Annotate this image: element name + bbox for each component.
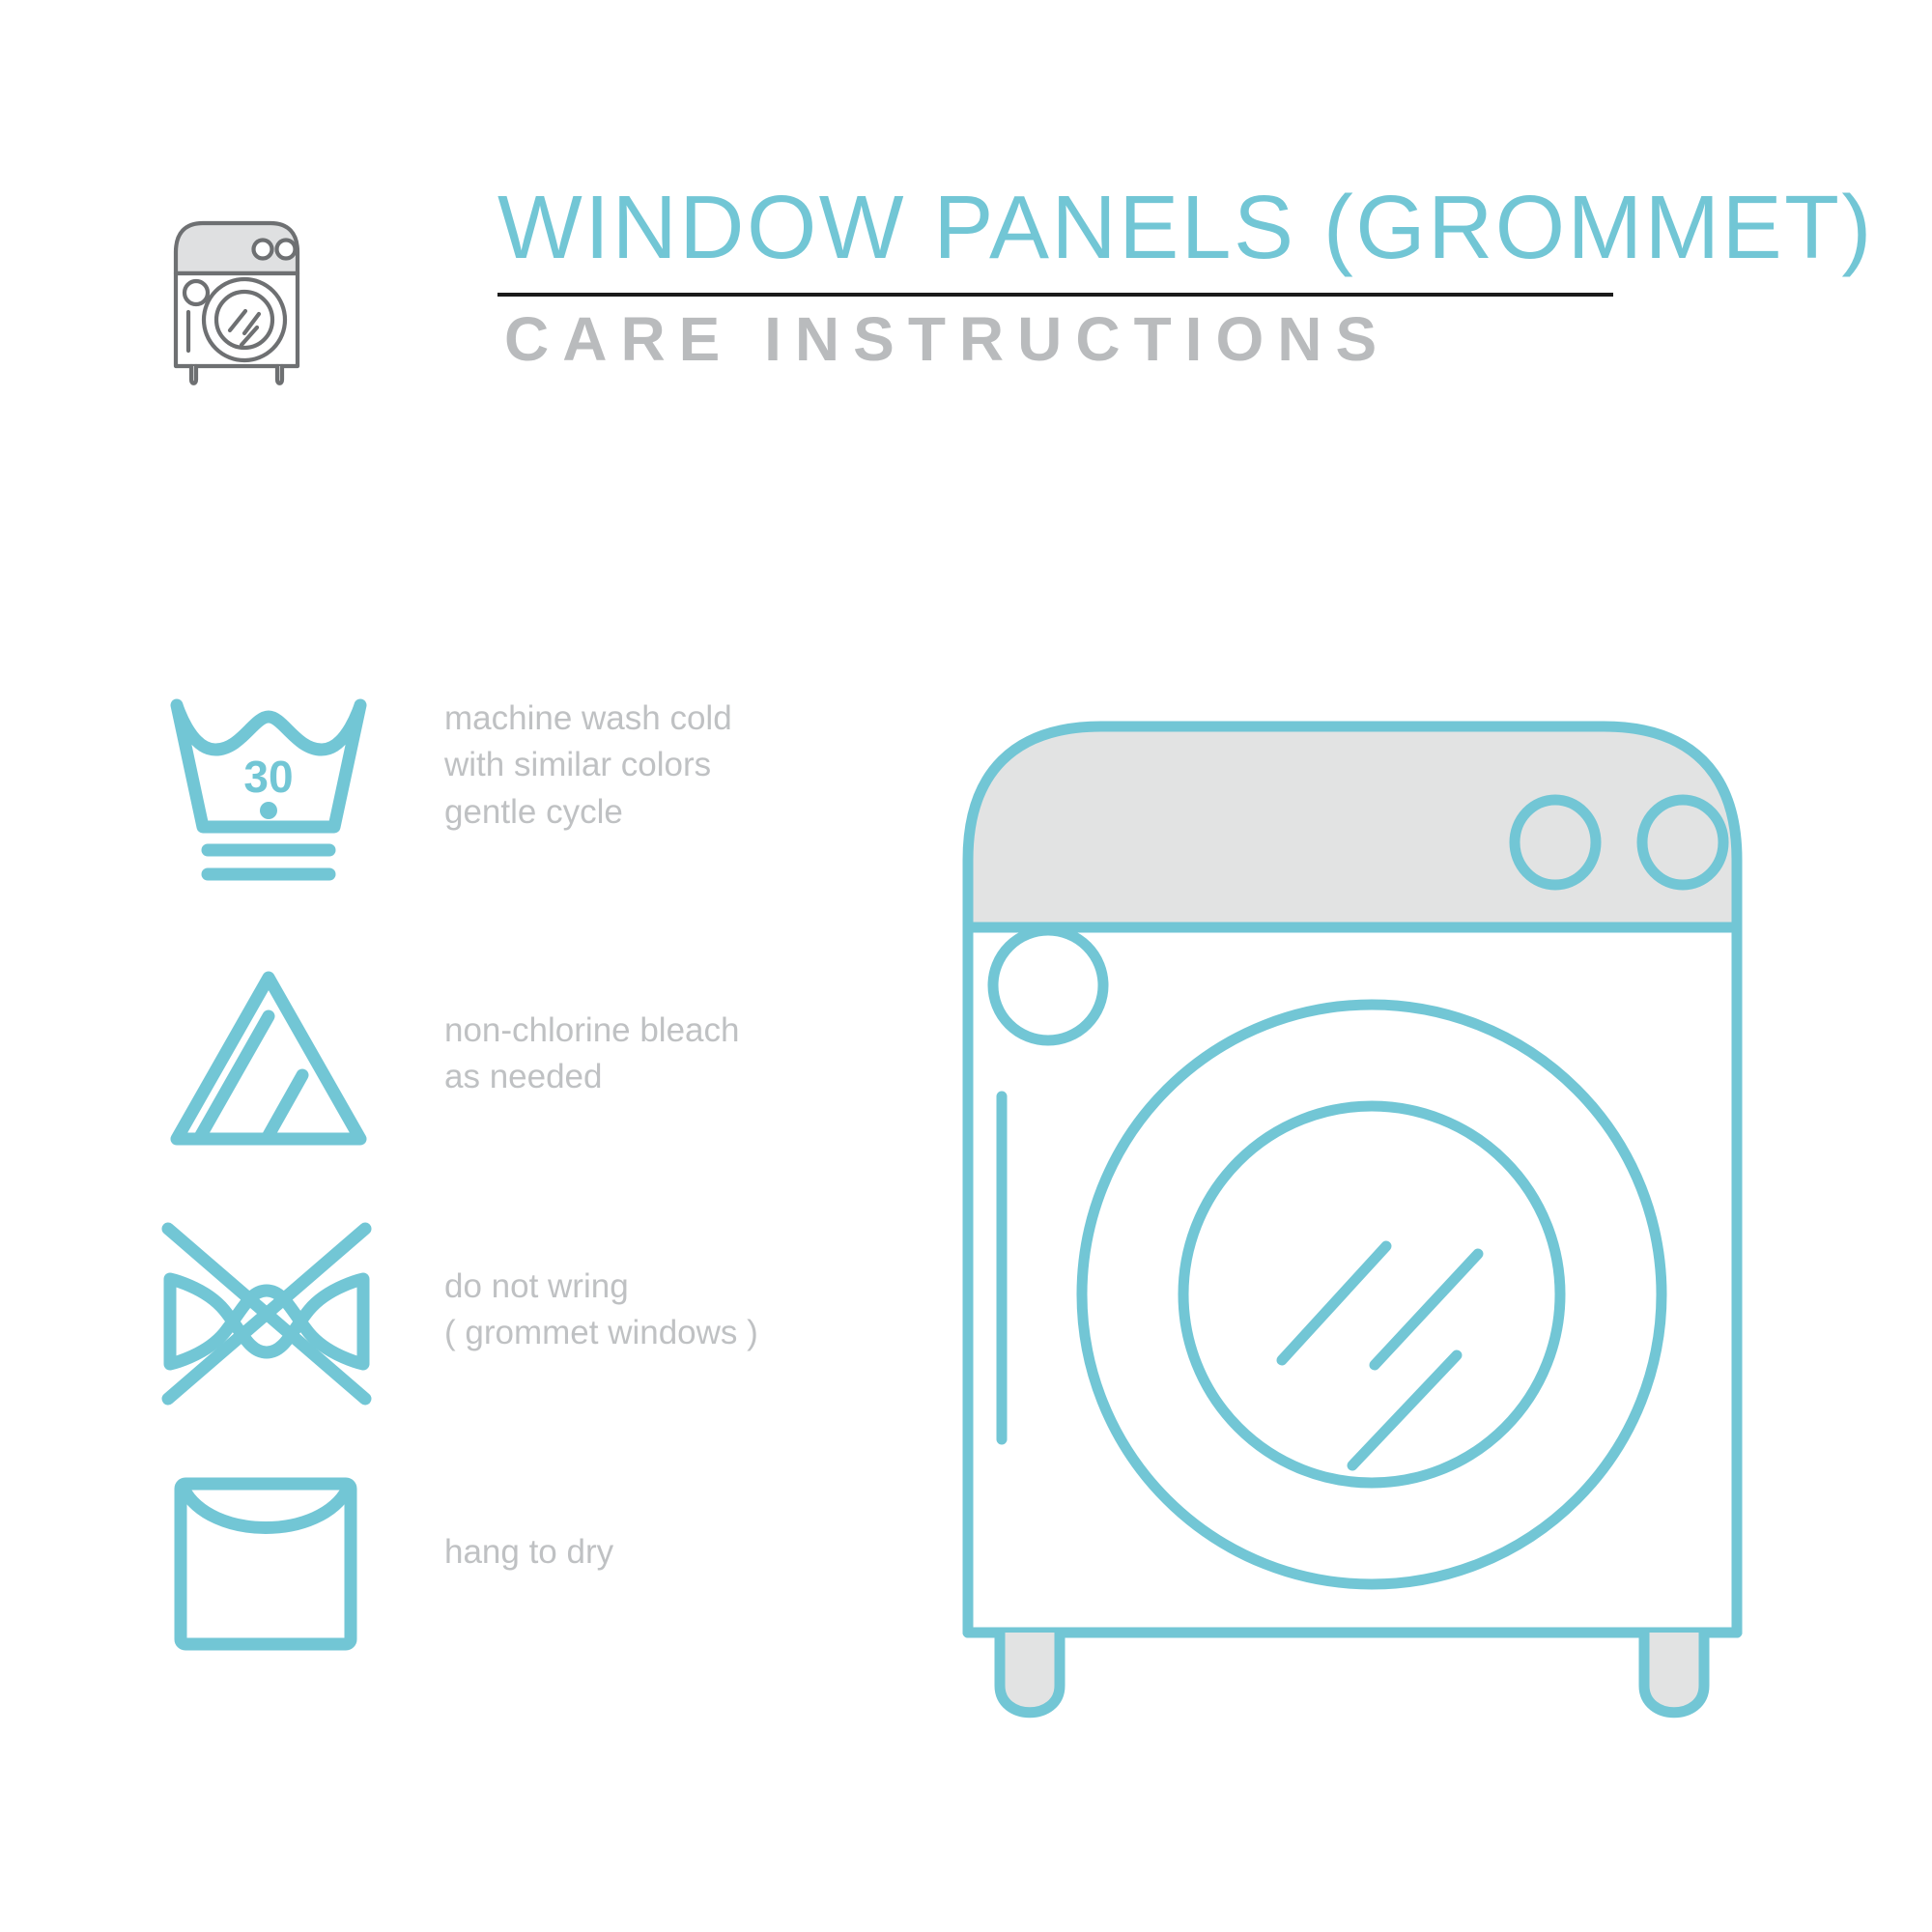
infographic-page: WINDOW PANELS (GROMMET) CARE INSTRUCTION… (0, 0, 1932, 1932)
wash-temperature-label: 30 (243, 752, 293, 802)
header: WINDOW PANELS (GROMMET) CARE INSTRUCTION… (150, 179, 1618, 401)
leg-right (1644, 1633, 1704, 1713)
non-chlorine-bleach-triangle-icon (159, 963, 382, 1176)
do-not-wring-icon (145, 1209, 367, 1422)
control-panel (968, 726, 1737, 927)
list-item: 30 machine wash cold with similar colors… (150, 676, 884, 932)
wash-tub-30-icon: 30 (157, 684, 380, 896)
title-divider (497, 293, 1613, 297)
indicator-light (993, 930, 1103, 1040)
instruction-list: 30 machine wash cold with similar colors… (150, 676, 884, 1700)
header-text-block: WINDOW PANELS (GROMMET) CARE INSTRUCTION… (348, 179, 1613, 293)
list-item-label: hang to dry (444, 1529, 613, 1576)
list-item-label: machine wash cold with similar colors ge… (444, 696, 732, 836)
page-subtitle: CARE INSTRUCTIONS (504, 304, 1390, 376)
list-item: non-chlorine bleach as needed (150, 932, 884, 1188)
washing-machine-illustration (947, 667, 1758, 1748)
knob-left (1515, 800, 1596, 885)
list-item-label: non-chlorine bleach as needed (444, 1008, 739, 1101)
list-item: do not wring ( grommet windows ) (150, 1188, 884, 1444)
title-row: WINDOW PANELS (GROMMET) (348, 179, 1613, 293)
leg-left (1000, 1633, 1060, 1713)
knob-right (1642, 800, 1723, 885)
list-item: hang to dry (150, 1444, 884, 1700)
hang-to-dry-icon (164, 1467, 386, 1680)
door-inner-ring (1183, 1106, 1560, 1483)
washing-machine-icon (164, 196, 309, 389)
page-title: WINDOW PANELS (GROMMET) (497, 179, 1874, 275)
list-item-label: do not wring ( grommet windows ) (444, 1264, 758, 1357)
